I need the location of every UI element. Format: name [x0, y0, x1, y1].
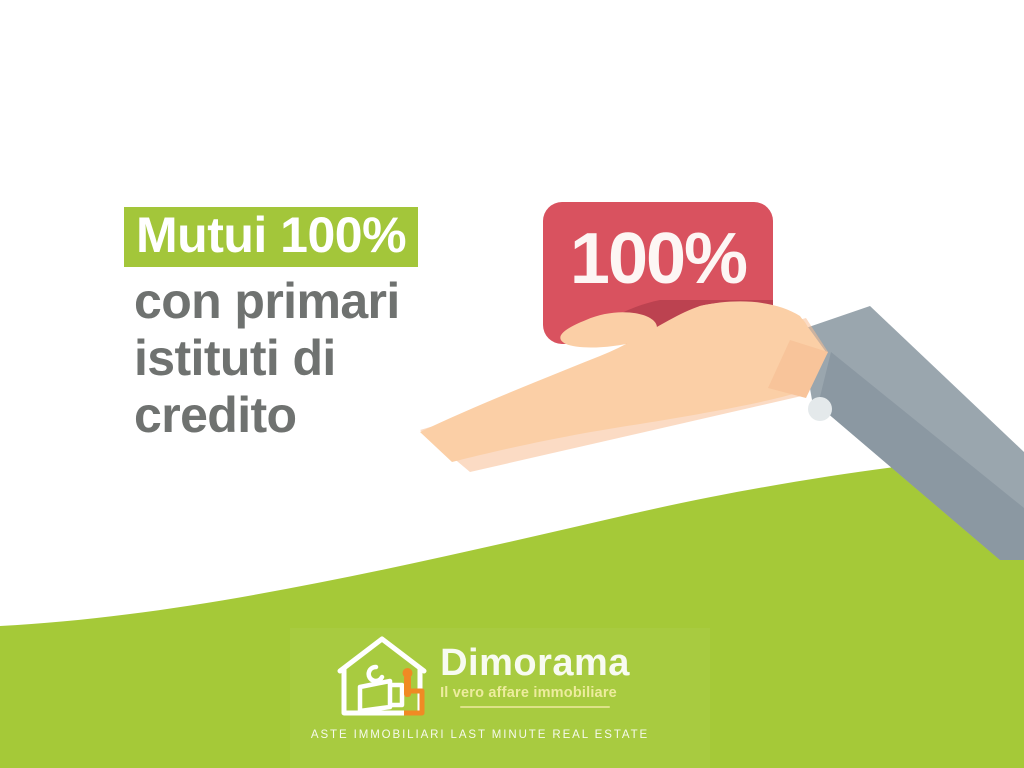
headline-highlight: Mutui 100% [124, 207, 418, 267]
logo-wordmark: Dimorama Il vero affare immobiliare [440, 644, 630, 709]
house-outline-icon [330, 633, 434, 719]
logo-divider [460, 706, 610, 708]
headline-line-3: credito [134, 387, 524, 444]
logo-row: Dimorama Il vero affare immobiliare [330, 632, 630, 720]
sleeve-group [800, 306, 1024, 560]
logo-name: Dimorama [440, 644, 630, 682]
dimorama-logo[interactable]: Dimorama Il vero affare immobiliare ASTE… [290, 632, 670, 754]
headline-line-1: con primari [134, 273, 524, 330]
logo-subtitle: ASTE IMMOBILIARI LAST MINUTE REAL ESTATE [311, 729, 649, 741]
headline-line-2: istituti di [134, 330, 524, 387]
promo-banner: Mutui 100% con primari istituti di credi… [0, 0, 1024, 768]
headline-block: Mutui 100% con primari istituti di credi… [124, 207, 524, 444]
sleeve-button-icon [808, 397, 832, 421]
logo-tagline: Il vero affare immobiliare [440, 686, 617, 701]
